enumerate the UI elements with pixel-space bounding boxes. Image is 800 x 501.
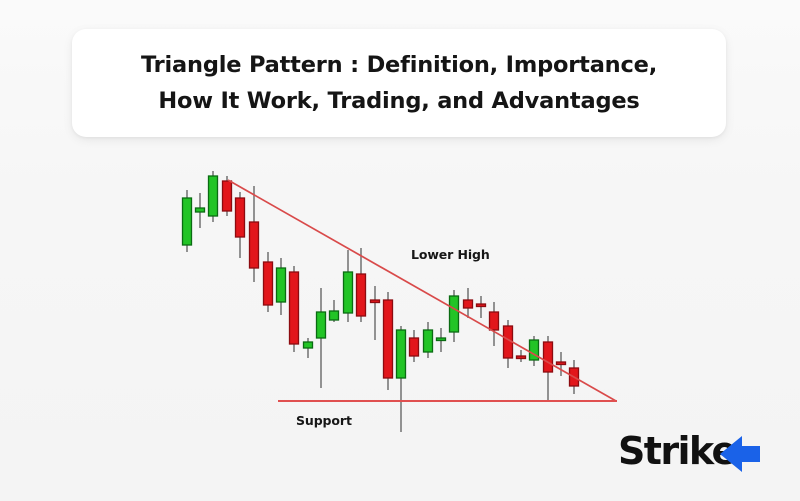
support-label: Support bbox=[296, 413, 352, 428]
page-background: Triangle Pattern : Definition, Importanc… bbox=[0, 0, 800, 501]
candle-body-bullish bbox=[317, 312, 326, 338]
candle-body-bullish bbox=[196, 208, 205, 212]
candle-body-bearish bbox=[490, 312, 499, 330]
candle-body-bearish bbox=[223, 181, 232, 211]
candle-body-bearish bbox=[236, 198, 245, 237]
candle-body-bearish bbox=[357, 274, 366, 316]
candle-body-bearish bbox=[264, 262, 273, 305]
page-title: Triangle Pattern : Definition, Importanc… bbox=[123, 47, 675, 120]
candle-body-bearish bbox=[384, 300, 393, 378]
candle-body-bullish bbox=[330, 311, 339, 320]
candle-body-bearish bbox=[290, 272, 299, 344]
candles-group bbox=[183, 171, 579, 432]
candle-body-bearish bbox=[410, 338, 419, 356]
candle-body-bearish bbox=[517, 356, 526, 359]
candle-body-bearish bbox=[371, 300, 380, 303]
candlestick-chart bbox=[0, 140, 800, 440]
candle-body-bullish bbox=[450, 296, 459, 332]
candle-body-bullish bbox=[304, 342, 313, 348]
candle-body-bullish bbox=[183, 198, 192, 245]
candle-body-bullish bbox=[344, 272, 353, 313]
candle-body-bearish bbox=[464, 300, 473, 308]
strike-logo: Strike bbox=[618, 428, 766, 478]
candle-body-bullish bbox=[209, 176, 218, 216]
left-chevron-arrow-icon bbox=[694, 434, 760, 474]
title-card: Triangle Pattern : Definition, Importanc… bbox=[72, 29, 726, 137]
candle-body-bullish bbox=[437, 338, 446, 341]
candle-body-bullish bbox=[424, 330, 433, 352]
candle-body-bullish bbox=[277, 268, 286, 302]
descending-triangle-chart-svg bbox=[0, 140, 800, 440]
candle-body-bearish bbox=[250, 222, 259, 268]
candle-body-bearish bbox=[477, 304, 486, 307]
lower-high-label: Lower High bbox=[411, 247, 490, 262]
candle-body-bullish bbox=[397, 330, 406, 378]
candle-body-bearish bbox=[544, 342, 553, 372]
candle-body-bearish bbox=[557, 362, 566, 365]
resistance-trendline bbox=[228, 180, 616, 401]
